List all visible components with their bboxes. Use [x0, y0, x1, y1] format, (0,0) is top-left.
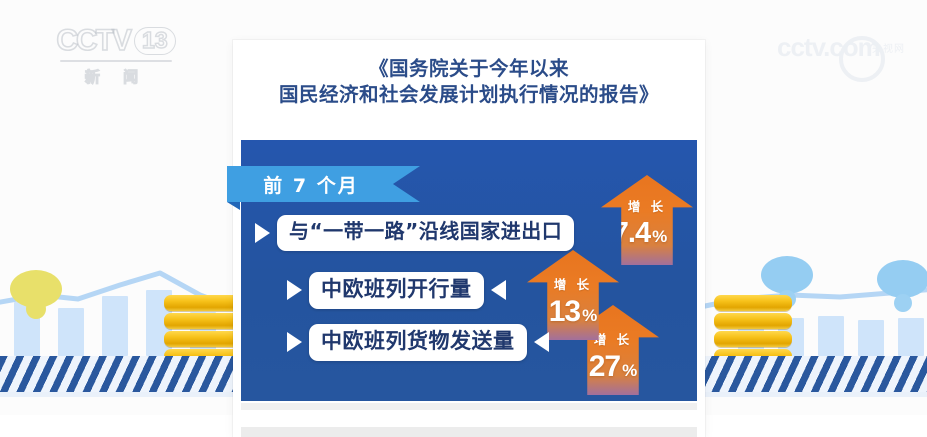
growth-number-2: 13	[549, 297, 580, 327]
triangle-right-icon-2	[287, 280, 302, 300]
growth-value-1: 7.4 %	[613, 219, 667, 248]
stats-panel: 前 7 个月 增 长 27 % 增 长 13 % 增 长 7.4 %	[241, 140, 697, 401]
card-bottom-band	[241, 427, 697, 437]
stat-label-2: 中欧班列开行量	[309, 272, 484, 309]
infographic-card: 《国务院关于今年以来 国民经济和社会发展计划执行情况的报告》 前 7 个月 增 …	[233, 40, 705, 437]
growth-arrow-up-icon-1: 增 长 7.4 %	[601, 175, 693, 265]
growth-caption-2: 增 长	[554, 279, 592, 292]
triangle-left-icon-3	[534, 332, 549, 352]
cctv-channel-number: 13	[134, 27, 176, 55]
growth-value-2: 13 %	[549, 297, 598, 327]
cctv13-watermark: CCTV 13 新 闻	[52, 26, 180, 94]
ribbon-label: 前 7 个月	[227, 166, 395, 202]
card-divider	[241, 403, 697, 410]
growth-number-1: 7.4	[613, 219, 650, 248]
coin	[714, 295, 792, 311]
growth-caption-1: 增 长	[628, 201, 666, 214]
stat-row-1: 与“一带一路”沿线国家进出口	[255, 215, 574, 251]
coin	[164, 295, 242, 311]
cctv-subtitle: 新 闻	[52, 66, 180, 87]
stat-row-2: 中欧班列开行量	[287, 272, 506, 309]
growth-unit-1: %	[652, 228, 667, 245]
stat-row-3: 中欧班列货物发送量	[287, 324, 549, 361]
cctvcom-subtitle: 央视网	[872, 40, 905, 55]
coin	[714, 313, 792, 329]
page-title: 《国务院关于今年以来 国民经济和社会发展计划执行情况的报告》	[233, 40, 705, 113]
growth-number-3: 27	[589, 352, 620, 382]
triangle-right-icon-1	[255, 223, 270, 243]
growth-unit-3: %	[622, 362, 637, 379]
triangle-left-icon-2	[491, 280, 506, 300]
coin	[164, 313, 242, 329]
stat-label-3: 中欧班列货物发送量	[309, 324, 527, 361]
coin	[164, 331, 242, 347]
growth-unit-2: %	[582, 307, 597, 324]
growth-value-3: 27 %	[589, 352, 638, 382]
title-line-1: 《国务院关于今年以来	[245, 56, 693, 82]
title-line-2: 国民经济和社会发展计划执行情况的报告》	[245, 82, 693, 108]
cctv-wordmark: CCTV	[56, 26, 130, 56]
cctvcom-watermark: cctv.com 央视网	[777, 34, 913, 78]
triangle-right-icon-3	[287, 332, 302, 352]
cctv13-logo-row: CCTV 13	[52, 26, 180, 56]
coin	[714, 331, 792, 347]
cctv-underline	[60, 60, 172, 62]
growth-caption-3: 增 长	[594, 334, 632, 347]
stat-label-1: 与“一带一路”沿线国家进出口	[277, 215, 574, 251]
